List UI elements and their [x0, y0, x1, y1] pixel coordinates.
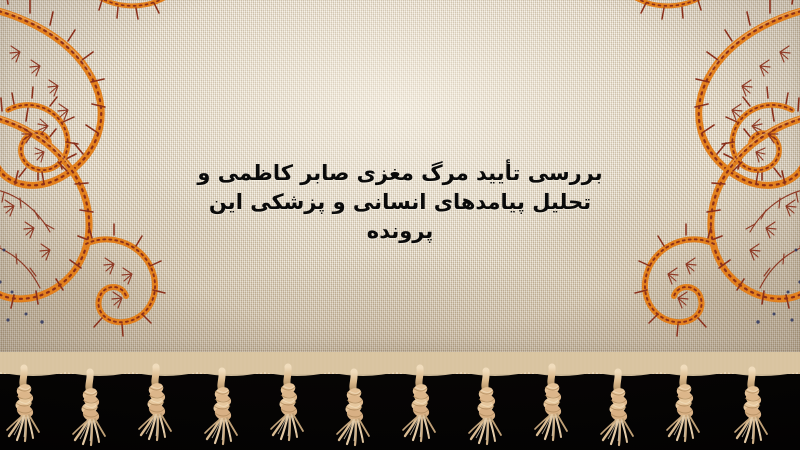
- linen-cloth-background: [0, 0, 800, 372]
- title-card: بررسی تأیید مرگ مغزی صابر کاظمی و تحلیل …: [0, 0, 800, 450]
- tassel-fringe: [0, 352, 800, 450]
- tassel-group: [0, 352, 800, 450]
